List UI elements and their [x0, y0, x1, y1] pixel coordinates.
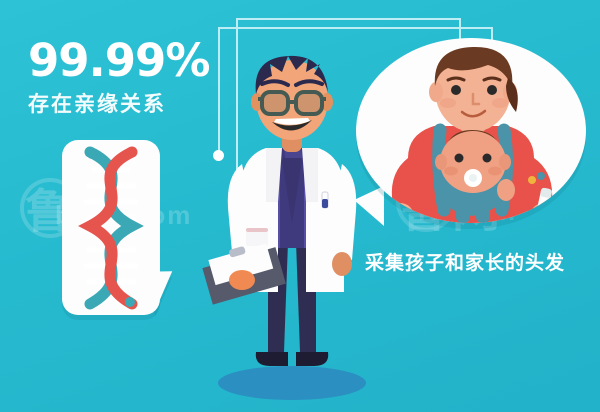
- doctor-illustration: [196, 52, 386, 382]
- family-bubble-content: [356, 38, 586, 223]
- dna-helix-icon: [62, 140, 160, 315]
- caption-text: 采集孩子和家长的头发: [365, 250, 580, 278]
- infographic-canvas: 鲁网 bank.com 鲁网 lu.com 99.99% 存在亲缘关系: [0, 0, 600, 412]
- connector-line-inner-horizontal: [218, 27, 493, 29]
- connector-line-outer-horizontal: [236, 18, 461, 20]
- father-and-baby-illustration: [356, 38, 586, 223]
